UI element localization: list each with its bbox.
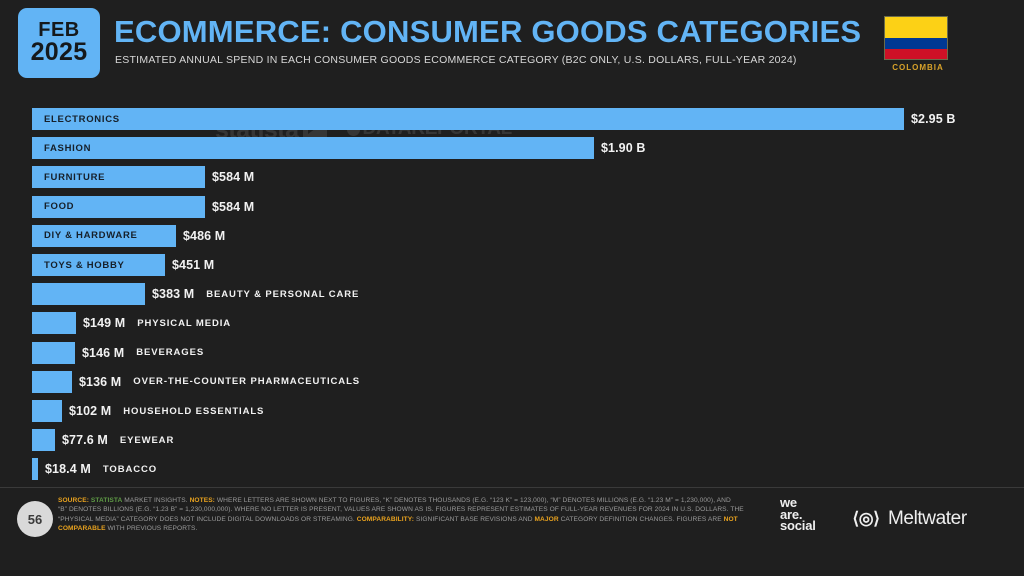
footnote-3c: CATEGORY DEFINITION CHANGES. FIGURES ARE [559,516,724,523]
bar-row: $77.6 MEYEWEAR [32,429,174,451]
bar-label-outside: OVER-THE-COUNTER PHARMACEUTICALS [133,376,360,387]
bar-value-label: $102 M [69,404,111,418]
bar-row: TOYS & HOBBY$451 M [32,254,214,276]
footnotes: SOURCE: STATISTA MARKET INSIGHTS. NOTES:… [58,496,758,534]
bar-row: FOOD$584 M [32,196,254,218]
bar-label-inside: FOOD [32,201,74,212]
bar-value-label: $77.6 M [62,433,108,447]
source-keyword: SOURCE: [58,497,89,504]
bar-label-outside: PHYSICAL MEDIA [137,318,231,329]
bar-label-outside: EYEWEAR [120,435,174,446]
bar-value-label: $136 M [79,375,121,389]
bar-beverages [32,342,75,364]
footnote-1a: MARKET INSIGHTS. [122,497,189,504]
bar-label-outside: HOUSEHOLD ESSENTIALS [123,406,264,417]
bar-label-outside: TOBACCO [103,464,157,475]
meltwater-wordmark: Meltwater [888,508,967,530]
flag-band-yellow [885,17,947,38]
footnote-line-1: SOURCE: STATISTA MARKET INSIGHTS. NOTES:… [58,496,758,505]
bar-tobacco [32,458,38,480]
bar-furniture: FURNITURE [32,166,205,188]
footnote-line-2: “B” DENOTES BILLIONS (E.G. “1.23 B” = 1,… [58,505,758,514]
logo-line-social: social [780,520,816,532]
bar-label-inside: TOYS & HOBBY [32,260,125,271]
date-badge: FEB 2025 [18,8,100,78]
bar-diy-hardware: DIY & HARDWARE [32,225,176,247]
bar-row: FURNITURE$584 M [32,166,254,188]
bar-chart: statista DATAREPORTAL ELECTRONICS$2.95 B… [0,98,1024,486]
bar-row: DIY & HARDWARE$486 M [32,225,225,247]
bar-value-label: $18.4 M [45,462,91,476]
source-name: STATISTA [91,497,122,504]
footer-divider [0,487,1024,488]
bar-row: $149 MPHYSICAL MEDIA [32,312,231,334]
bar-eyewear [32,429,55,451]
meltwater-logo: ⟨◎⟩ Meltwater [849,508,967,530]
bar-label-inside: ELECTRONICS [32,114,120,125]
slide-root: FEB 2025 ECOMMERCE: CONSUMER GOODS CATEG… [0,0,1024,576]
bar-row: $146 MBEVERAGES [32,342,204,364]
bar-label-inside: FASHION [32,143,91,154]
footnote-4b: WITH PREVIOUS REPORTS. [106,525,198,532]
page-number-badge: 56 [17,501,53,537]
bar-label-inside: DIY & HARDWARE [32,230,138,241]
bar-fashion: FASHION [32,137,594,159]
date-month: FEB [38,20,80,40]
bar-value-label: $383 M [152,287,194,301]
bar-value-label: $1.90 B [601,141,645,155]
bar-value-label: $146 M [82,346,124,360]
colombia-flag-icon [884,16,948,60]
bar-label-inside: FURNITURE [32,172,105,183]
bar-household-essentials [32,400,62,422]
page-title: ECOMMERCE: CONSUMER GOODS CATEGORIES [114,14,861,50]
not-keyword: NOT [724,516,738,523]
bar-label-outside: BEVERAGES [136,347,204,358]
bar-row: $18.4 MTOBACCO [32,458,157,480]
footnote-line-4: COMPARABLE WITH PREVIOUS REPORTS. [58,524,758,533]
footnote-3a: “PHYSICAL MEDIA” CATEGORY DOES NOT INCLU… [58,516,357,523]
notes-keyword: NOTES: [190,497,215,504]
bar-electronics: ELECTRONICS [32,108,904,130]
bar-row: $136 MOVER-THE-COUNTER PHARMACEUTICALS [32,371,360,393]
page-subtitle: ESTIMATED ANNUAL SPEND IN EACH CONSUMER … [115,54,797,66]
date-year: 2025 [31,40,88,66]
bar-food: FOOD [32,196,205,218]
bar-label-outside: BEAUTY & PERSONAL CARE [206,289,359,300]
bar-value-label: $149 M [83,316,125,330]
bar-value-label: $451 M [172,258,214,272]
footnote-3b: SIGNIFICANT BASE REVISIONS AND [414,516,534,523]
footnote-line-3: “PHYSICAL MEDIA” CATEGORY DOES NOT INCLU… [58,515,758,524]
bar-physical-media [32,312,76,334]
header: FEB 2025 ECOMMERCE: CONSUMER GOODS CATEG… [0,0,1024,92]
country-name: COLOMBIA [884,63,952,72]
major-keyword: MAJOR [534,516,558,523]
bar-value-label: $584 M [212,170,254,184]
comparable-keyword: COMPARABLE [58,525,106,532]
bar-value-label: $584 M [212,200,254,214]
bar-value-label: $2.95 B [911,112,955,126]
flag-band-red [885,49,947,60]
flag-band-blue [885,38,947,49]
bar-row: FASHION$1.90 B [32,137,645,159]
bar-row: ELECTRONICS$2.95 B [32,108,955,130]
bar-row: $383 MBEAUTY & PERSONAL CARE [32,283,359,305]
we-are-social-logo: we are. social [780,497,816,532]
bar-over-the-counter-pharmaceuticals [32,371,72,393]
footnote-1b: WHERE LETTERS ARE SHOWN NEXT TO FIGURES,… [215,497,731,504]
comparability-keyword: COMPARABILITY: [357,516,414,523]
country-flag-block: COLOMBIA [884,16,952,72]
bar-beauty-personal-care [32,283,145,305]
bar-toys-hobby: TOYS & HOBBY [32,254,165,276]
meltwater-eye-icon: ⟨◎⟩ [849,511,883,528]
bar-row: $102 MHOUSEHOLD ESSENTIALS [32,400,264,422]
bar-value-label: $486 M [183,229,225,243]
